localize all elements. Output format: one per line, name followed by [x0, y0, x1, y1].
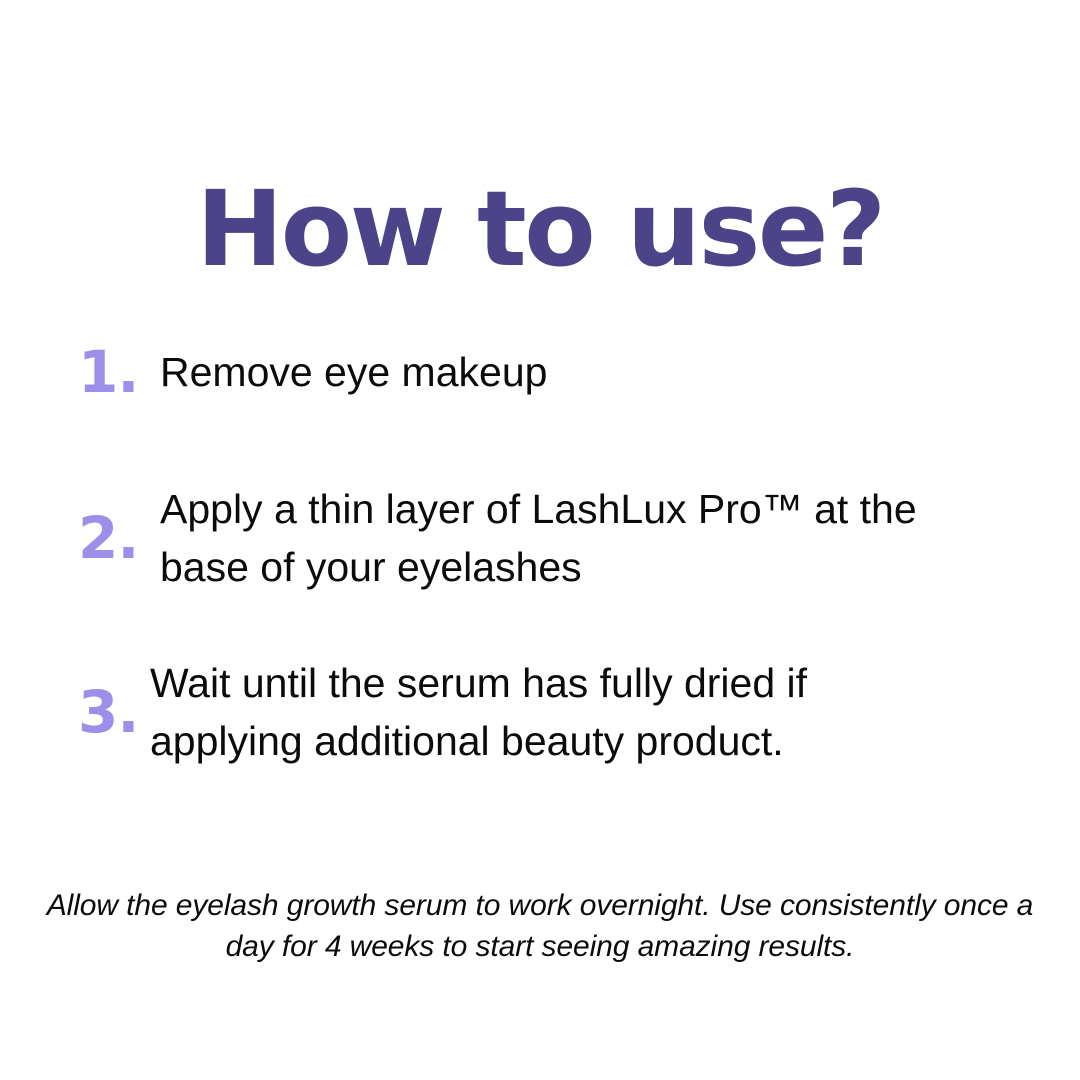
- step-number-3: 3.: [0, 683, 160, 741]
- spacer: [0, 632, 1080, 644]
- step-text-1: Remove eye makeup: [160, 343, 630, 401]
- list-item: 1. Remove eye makeup: [0, 334, 1080, 410]
- instruction-card: How to use? 1. Remove eye makeup 2. Appl…: [0, 0, 1080, 1080]
- step-number-1: 1.: [0, 343, 160, 401]
- footer-note: Allow the eyelash growth serum to work o…: [35, 885, 1045, 967]
- page-title: How to use?: [0, 174, 1080, 284]
- list-item: 3. Wait until the serum has fully dried …: [0, 644, 1080, 780]
- spacer: [0, 410, 1080, 444]
- step-text-3: Wait until the serum has fully dried if …: [150, 654, 920, 770]
- steps-list: 1. Remove eye makeup 2. Apply a thin lay…: [0, 334, 1080, 780]
- step-number-2: 2.: [0, 509, 160, 567]
- step-text-2: Apply a thin layer of LashLux Pro™ at th…: [160, 480, 920, 596]
- list-item: 2. Apply a thin layer of LashLux Pro™ at…: [0, 444, 1080, 632]
